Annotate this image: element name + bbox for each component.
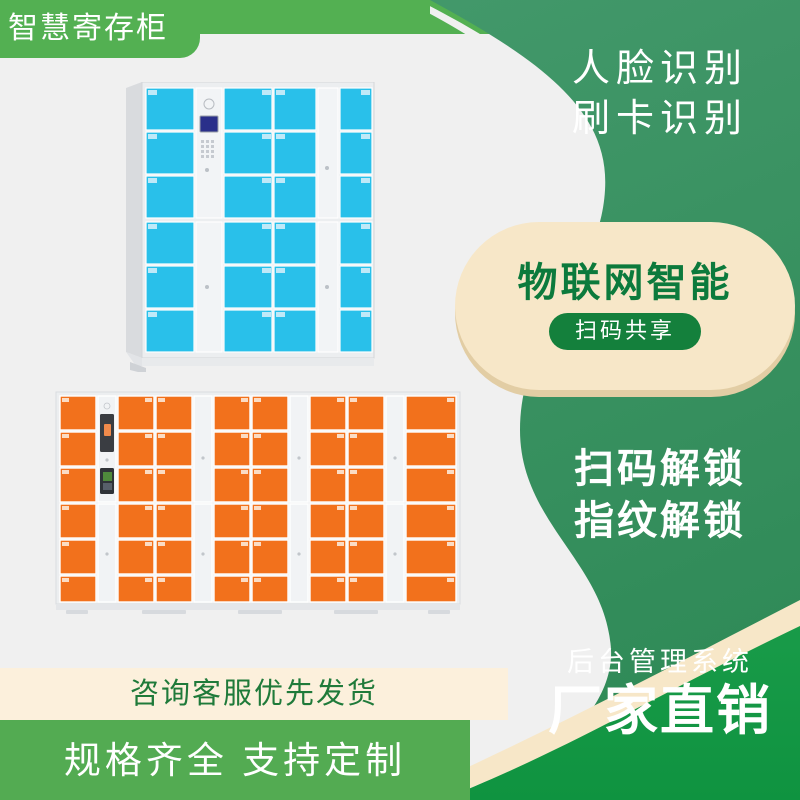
feature-line-face-recognition: 人脸识别	[520, 44, 800, 94]
feature-block-factory: 后台管理系统 厂家直销	[515, 646, 800, 743]
backend-system-label: 后台管理系统	[515, 646, 800, 680]
feature-block-recognition: 人脸识别 刷卡识别	[520, 44, 800, 144]
feature-line-scan-unlock: 扫码解锁	[520, 443, 800, 495]
scan-share-pill: 扫码共享	[549, 313, 701, 350]
iot-headline: 物联网智能	[518, 263, 733, 303]
product-image-blue-locker	[112, 82, 380, 372]
poster-canvas: 智慧寄存柜	[0, 0, 800, 800]
cream-promo-band: 咨询客服优先发货	[0, 668, 508, 720]
iot-highlight-panel: 物联网智能 扫码共享	[455, 222, 795, 390]
brand-badge-label: 智慧寄存柜	[8, 14, 168, 44]
feature-line-card-recognition: 刷卡识别	[520, 94, 800, 144]
green-promo-text: 规格齐全 支持定制	[64, 742, 406, 779]
feature-block-unlock: 扫码解锁 指纹解锁	[520, 443, 800, 547]
factory-direct-headline: 厂家直销	[515, 680, 800, 744]
feature-line-fingerprint-unlock: 指纹解锁	[520, 495, 800, 547]
green-promo-band: 规格齐全 支持定制	[0, 720, 470, 800]
product-image-orange-locker	[52, 388, 464, 620]
cream-promo-text: 咨询客服优先发货	[130, 680, 378, 709]
brand-badge: 智慧寄存柜	[0, 0, 200, 58]
